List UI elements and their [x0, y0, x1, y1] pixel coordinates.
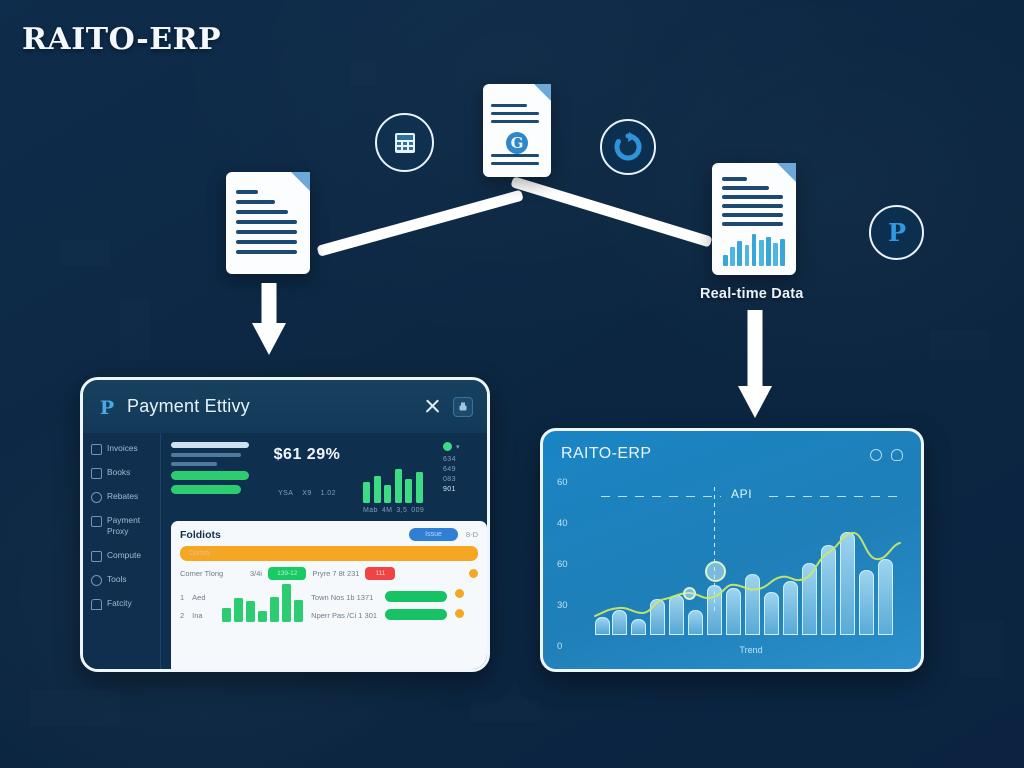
payment-panel-title: Payment Ettivy: [127, 396, 250, 417]
row-note: Town Nos 1b 1371: [311, 593, 377, 602]
mini-label: X9: [302, 490, 311, 497]
y-tick: 30: [557, 600, 568, 611]
banner-label: Comity: [189, 550, 211, 557]
row-status-dot: [455, 609, 464, 618]
payment-panel-header: P Payment Ettivy: [83, 380, 487, 433]
calculator-icon: [375, 113, 434, 172]
row-mini-chart: [222, 584, 303, 622]
compute-icon: [91, 551, 102, 562]
svg-text:P: P: [887, 218, 905, 247]
green-bar-chart: Mab 4M 3,5 009: [363, 442, 433, 514]
row-tag: 111: [365, 567, 395, 580]
mini-label: 1.02: [321, 490, 336, 497]
status-badge: [443, 442, 452, 451]
row-progress: [385, 591, 447, 602]
chart-vertical-guide: [714, 487, 715, 612]
sidebar-item-label: Tools: [107, 574, 127, 585]
y-tick: 0: [557, 641, 562, 652]
metric-group: $61 29% YSA X9 1.02: [261, 442, 353, 514]
rebates-icon: [91, 492, 102, 503]
row-status-dot: [469, 569, 478, 578]
sidebar-item-label: Rebates: [107, 491, 138, 502]
highlight-banner: Comity: [180, 546, 478, 561]
row-note: Pryre 7 8t 231: [312, 569, 359, 578]
y-tick: 40: [557, 518, 568, 529]
sidebar-item-label: Invoices: [107, 443, 138, 454]
chart-y-axis: 60 40 60 30 0: [557, 477, 587, 652]
print-icon[interactable]: [453, 397, 473, 417]
row-note: Nperr Pas /Ci 1 301: [311, 611, 377, 620]
paypal-logo-icon: P: [97, 395, 117, 419]
y-tick: 60: [557, 559, 568, 570]
close-icon[interactable]: [424, 398, 441, 415]
svg-text:P: P: [100, 397, 114, 419]
sync-icon: [600, 119, 656, 175]
metric-value: $61 29%: [274, 446, 341, 464]
poster-canvas: RAITO-ERP G: [0, 0, 1024, 768]
y-tick: 60: [557, 477, 568, 488]
row-status-dot: [455, 589, 464, 598]
mini-label: 4M: [382, 507, 393, 514]
issue-button[interactable]: Issue: [409, 528, 458, 541]
doc-bar-chart: [723, 230, 785, 266]
api-label: API: [731, 487, 752, 501]
home-icon: [91, 599, 102, 610]
sidebar-item-fatcity[interactable]: Fatcity: [91, 598, 154, 610]
page-title: RAITO-ERP: [22, 22, 221, 57]
payment-panel[interactable]: P Payment Ettivy Invoices: [80, 377, 490, 672]
mini-label: Mab: [363, 507, 378, 514]
row-name: Ina: [192, 611, 214, 620]
side-value: 649: [443, 466, 456, 473]
sidebar-item-label: Books: [107, 467, 130, 478]
status-caret: ▾: [456, 443, 460, 451]
arrow-down-right: [735, 310, 775, 422]
card-title: Foldiots: [180, 529, 221, 541]
chart-x-label: Trend: [739, 645, 762, 655]
books-icon: [91, 468, 102, 479]
sidebar-item-books[interactable]: Books: [91, 467, 154, 479]
row-name: Aed: [192, 593, 214, 602]
page-fold-icon: [534, 84, 551, 101]
row-index: 1: [180, 593, 184, 602]
row-badge: 139-12: [268, 567, 306, 580]
status-group: ▾ 634 649 083 901: [443, 442, 487, 514]
sidebar-item-invoices[interactable]: Invoices: [91, 443, 154, 455]
mini-label: 009: [411, 507, 424, 514]
realtime-document: [712, 163, 796, 275]
side-value: 083: [443, 476, 456, 483]
center-document: G: [483, 84, 551, 177]
tools-icon: [91, 575, 102, 586]
api-annotation: API: [601, 489, 903, 503]
paypal-icon: P: [869, 205, 924, 260]
progress-group: [171, 442, 251, 514]
center-doc-logo: G: [511, 134, 524, 152]
side-value: 901: [443, 486, 456, 493]
bell-icon[interactable]: [891, 449, 903, 461]
row-mid: 3/4i: [250, 569, 262, 578]
erp-bar-chart: Trend: [595, 509, 907, 657]
payment-main: $61 29% YSA X9 1.02: [161, 433, 490, 672]
page-fold-icon: [291, 172, 310, 191]
page-fold-icon: [777, 163, 796, 182]
sidebar-item-payment-proxy[interactable]: Payment Proxy: [91, 515, 154, 538]
sidebar-item-label: Payment Proxy: [107, 515, 154, 538]
sidebar-item-tools[interactable]: Tools: [91, 574, 154, 586]
sidebar-item-rebates[interactable]: Rebates: [91, 491, 154, 503]
mini-label: YSA: [278, 490, 293, 497]
chart-trend-line: [595, 509, 907, 657]
chart-marker: [683, 587, 696, 600]
transactions-card[interactable]: Foldiots Issue 8-D Comity Comer Tlong 3/…: [171, 521, 487, 672]
mini-label: 3,5: [396, 507, 407, 514]
row-progress: [385, 609, 447, 620]
realtime-caption: Real-time Data: [700, 286, 804, 302]
chart-marker: [705, 561, 726, 582]
arrow-down-left: [249, 283, 289, 353]
stats-row: $61 29% YSA X9 1.02: [171, 442, 487, 514]
side-value: 634: [443, 456, 456, 463]
payment-sidebar[interactable]: Invoices Books Rebates Payment Proxy Com…: [83, 433, 161, 672]
erp-panel-title: RAITO-ERP: [561, 445, 651, 463]
sidebar-item-compute[interactable]: Compute: [91, 550, 154, 562]
invoice-icon: [91, 444, 102, 455]
table-row[interactable]: Comer Tlong 3/4i 139-12 Pryre 7 8t 231 1…: [180, 567, 478, 580]
gear-icon[interactable]: [870, 449, 882, 461]
source-document: [226, 172, 310, 274]
payment-proxy-icon: [91, 516, 102, 527]
erp-dashboard-panel[interactable]: RAITO-ERP 60 40 60 30 0 API: [540, 428, 924, 672]
card-meta: 8-D: [466, 530, 478, 539]
row-name: Comer Tlong: [180, 569, 244, 578]
sidebar-item-label: Compute: [107, 550, 141, 561]
sidebar-item-label: Fatcity: [107, 598, 132, 609]
row-index: 2: [180, 611, 184, 620]
